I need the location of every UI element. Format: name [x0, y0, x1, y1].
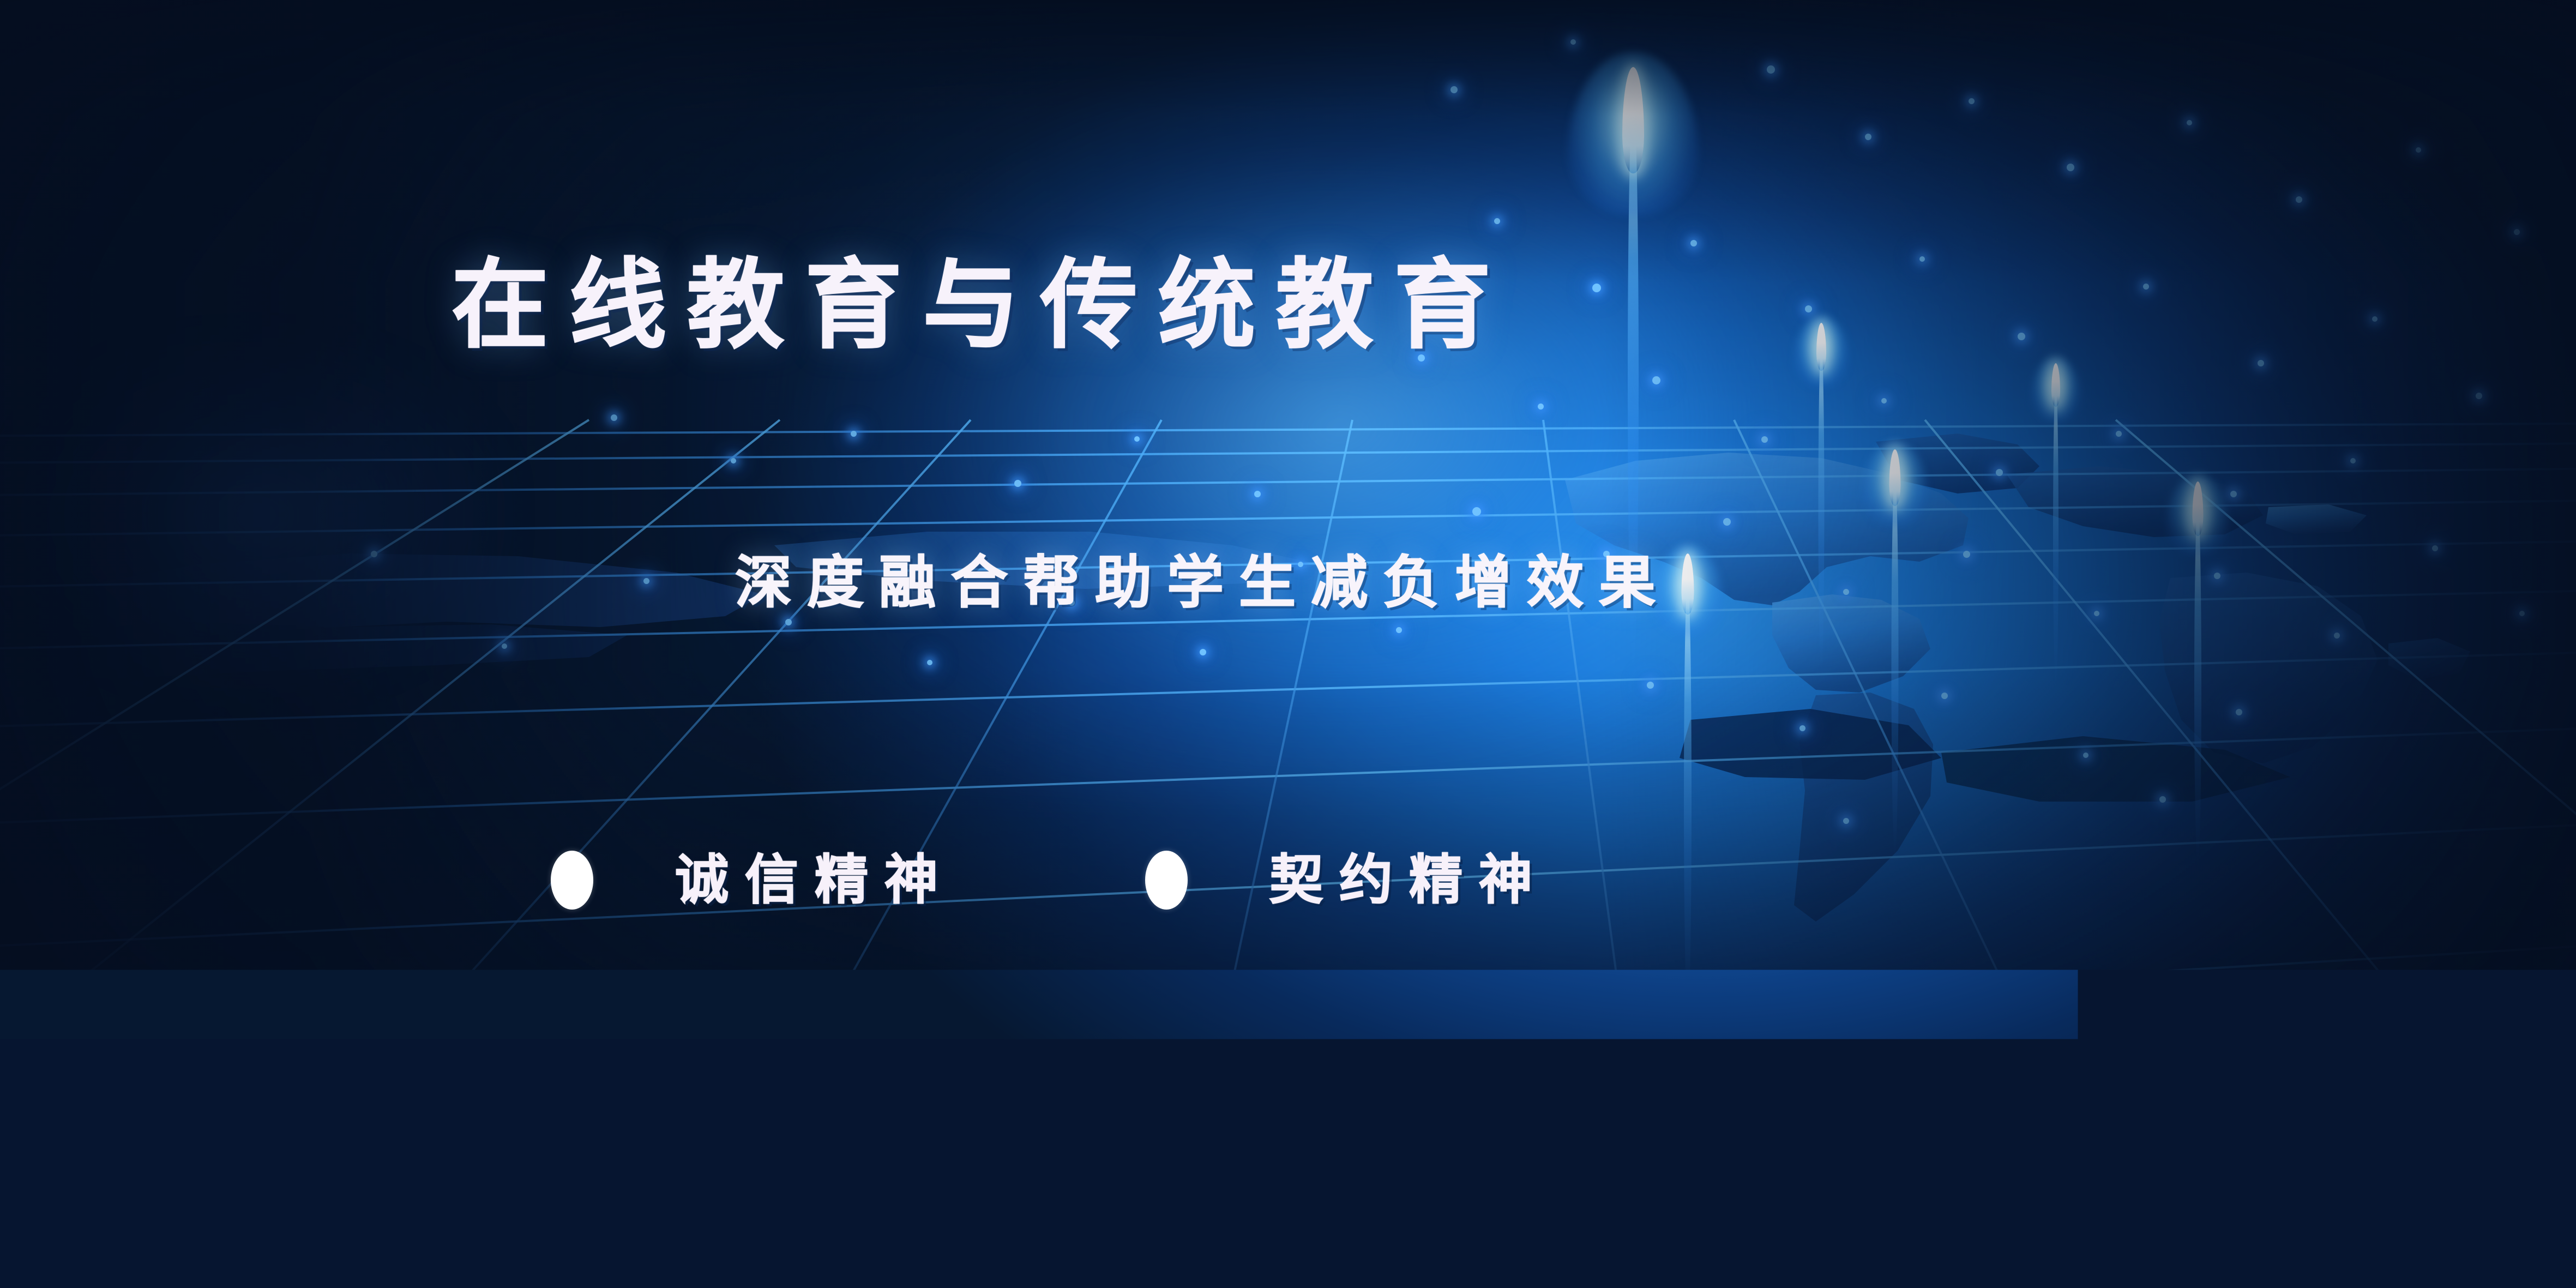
feature-label: 团队精神: [675, 1046, 954, 1099]
bullet-dot-icon: [1145, 851, 1188, 910]
bullet-dot-icon: [1145, 1043, 1188, 1102]
feature-label: 奉献精神: [1269, 1046, 1549, 1099]
feature-row: 诚信精神 契约精神: [551, 851, 1685, 910]
feature-row: 团队精神 奉献精神: [551, 1043, 1685, 1102]
bullet-dot-icon: [551, 851, 593, 910]
page-title: 在线教育与传统教育: [452, 257, 1512, 354]
education-banner: 在线教育与传统教育 深度融合帮助学生减负增效果 诚信精神 契约精神 团队精神 奉…: [0, 0, 2576, 1288]
feature-list: 诚信精神 契约精神 团队精神 奉献精神: [551, 851, 1685, 1102]
bullet-dot-icon: [551, 1043, 593, 1102]
feature-label: 契约精神: [1269, 853, 1549, 907]
feature-label: 诚信精神: [675, 853, 954, 907]
feature-item-dedication[interactable]: 奉献精神: [1145, 1043, 1549, 1102]
feature-item-integrity[interactable]: 诚信精神: [551, 851, 1145, 910]
page-subtitle: 深度融合帮助学生减负增效果: [735, 554, 1671, 611]
feature-item-teamwork[interactable]: 团队精神: [551, 1043, 1145, 1102]
feature-item-contract[interactable]: 契约精神: [1145, 851, 1549, 910]
